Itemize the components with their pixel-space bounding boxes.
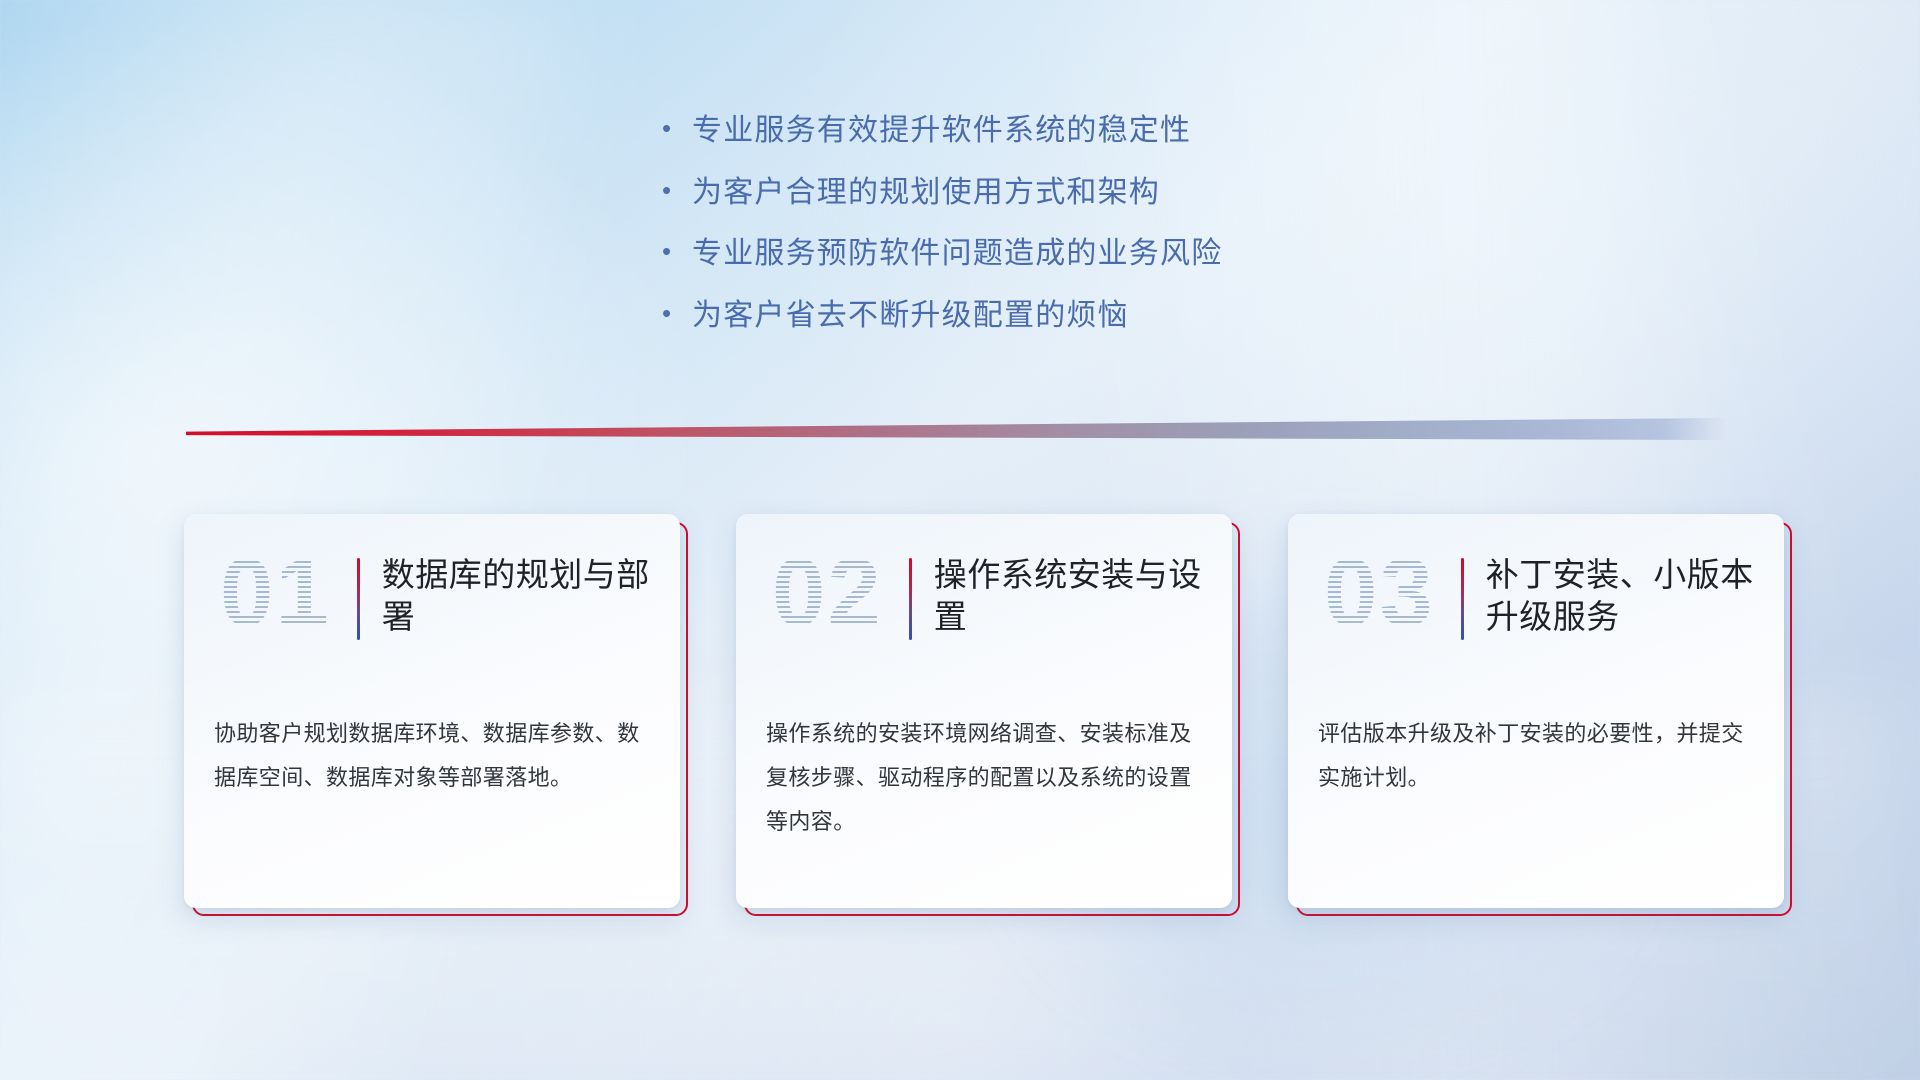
list-item: 专业服务有效提升软件系统的稳定性 bbox=[662, 112, 1422, 150]
card-surface: 02 操作系统安装与设置 操作系统的安装环境网络调查、安装标准及复核步骤、驱动程… bbox=[736, 514, 1232, 908]
bullet-item-label: 为客户合理的规划使用方式和架构 bbox=[692, 174, 1160, 212]
card-header: 02 操作系统安装与设置 bbox=[766, 552, 1202, 668]
bullet-point-icon bbox=[662, 300, 692, 326]
service-card-list: 01 数据库的规划与部署 协助客户规划数据库环境、数据库参数、数据库空间、数据库… bbox=[184, 514, 1784, 908]
list-item: 为客户省去不断升级配置的烦恼 bbox=[662, 297, 1422, 335]
bullet-item-label: 专业服务预防软件问题造成的业务风险 bbox=[692, 235, 1222, 273]
card-number-watermark: 03 bbox=[1324, 546, 1435, 640]
card-description: 操作系统的安装环境网络调查、安装标准及复核步骤、驱动程序的配置以及系统的设置等内… bbox=[766, 712, 1202, 844]
card-description: 评估版本升级及补丁安装的必要性，并提交实施计划。 bbox=[1318, 712, 1754, 800]
section-divider bbox=[186, 418, 1726, 440]
card-title: 操作系统安装与设置 bbox=[934, 552, 1202, 638]
card-description: 协助客户规划数据库环境、数据库参数、数据库空间、数据库对象等部署落地。 bbox=[214, 712, 650, 800]
card-surface: 03 补丁安装、小版本升级服务 评估版本升级及补丁安装的必要性，并提交实施计划。 bbox=[1288, 514, 1784, 908]
list-item: 专业服务预防软件问题造成的业务风险 bbox=[662, 235, 1422, 273]
bullet-item-label: 专业服务有效提升软件系统的稳定性 bbox=[692, 112, 1191, 150]
card-number-watermark: 01 bbox=[220, 546, 331, 640]
card-header: 01 数据库的规划与部署 bbox=[214, 552, 650, 668]
bullet-point-icon bbox=[662, 238, 692, 264]
card-accent-rule bbox=[1461, 558, 1464, 640]
card-accent-rule bbox=[909, 558, 912, 640]
list-item: 为客户合理的规划使用方式和架构 bbox=[662, 174, 1422, 212]
service-card[interactable]: 02 操作系统安装与设置 操作系统的安装环境网络调查、安装标准及复核步骤、驱动程… bbox=[736, 514, 1232, 908]
card-surface: 01 数据库的规划与部署 协助客户规划数据库环境、数据库参数、数据库空间、数据库… bbox=[184, 514, 680, 908]
card-number-watermark: 02 bbox=[772, 546, 883, 640]
bullet-item-label: 为客户省去不断升级配置的烦恼 bbox=[692, 297, 1129, 335]
card-header: 03 补丁安装、小版本升级服务 bbox=[1318, 552, 1754, 668]
divider-sheen-overlay bbox=[186, 418, 1726, 440]
benefits-bullet-list: 专业服务有效提升软件系统的稳定性 为客户合理的规划使用方式和架构 专业服务预防软… bbox=[662, 112, 1422, 358]
card-accent-rule bbox=[357, 558, 360, 640]
card-title: 数据库的规划与部署 bbox=[382, 552, 650, 638]
bullet-point-icon bbox=[662, 177, 692, 203]
bullet-point-icon bbox=[662, 115, 692, 141]
card-title: 补丁安装、小版本升级服务 bbox=[1486, 552, 1754, 638]
service-card[interactable]: 01 数据库的规划与部署 协助客户规划数据库环境、数据库参数、数据库空间、数据库… bbox=[184, 514, 680, 908]
service-card[interactable]: 03 补丁安装、小版本升级服务 评估版本升级及补丁安装的必要性，并提交实施计划。 bbox=[1288, 514, 1784, 908]
